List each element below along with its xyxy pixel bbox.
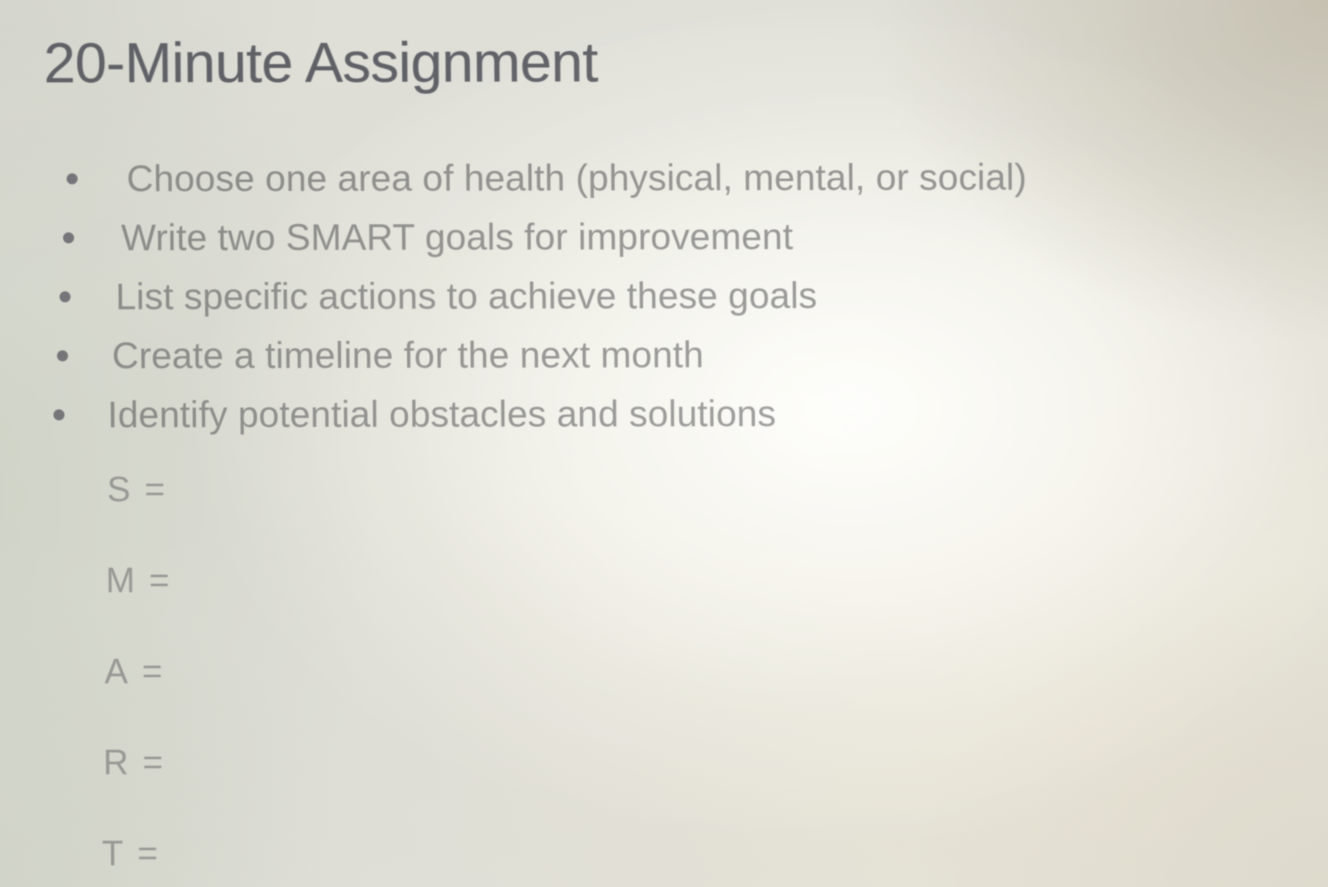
list-item-label: List specific actions to achieve these g… bbox=[115, 275, 817, 318]
bullet-dot-icon bbox=[57, 350, 68, 361]
smart-letter-t: T bbox=[102, 834, 125, 873]
smart-separator: = bbox=[142, 743, 164, 782]
smart-letter-s: S bbox=[107, 470, 132, 509]
smart-separator: = bbox=[137, 834, 159, 873]
list-item: Choose one area of health (physical, men… bbox=[66, 156, 1288, 217]
smart-separator: = bbox=[149, 561, 171, 600]
smart-separator: = bbox=[142, 652, 164, 691]
list-item: Write two SMART goals for improvement bbox=[63, 215, 1289, 276]
list-item-label: Choose one area of health (physical, men… bbox=[126, 157, 1027, 201]
smart-letter-r: R bbox=[103, 743, 130, 782]
smart-goal-worksheet: S = M = A = R = T = bbox=[101, 469, 705, 887]
smart-field-a: A = bbox=[104, 651, 703, 743]
projected-slide-photo: 20-Minute Assignment Choose one area of … bbox=[0, 0, 1328, 887]
page-title: 20-Minute Assignment bbox=[43, 29, 597, 96]
list-item-label: Identify potential obstacles and solutio… bbox=[107, 393, 776, 436]
list-item: List specific actions to achieve these g… bbox=[59, 274, 1289, 335]
bullet-dot-icon bbox=[67, 173, 78, 184]
list-item: Create a timeline for the next month bbox=[57, 333, 1290, 394]
assignment-instruction-list: Choose one area of health (physical, men… bbox=[48, 156, 1290, 453]
list-item-label: Create a timeline for the next month bbox=[112, 334, 704, 377]
list-item-label: Write two SMART goals for improvement bbox=[121, 216, 793, 259]
list-item: Identify potential obstacles and solutio… bbox=[53, 392, 1290, 453]
bullet-dot-icon bbox=[59, 291, 70, 302]
smart-field-m: M = bbox=[106, 560, 703, 652]
smart-field-s: S = bbox=[107, 469, 702, 561]
smart-letter-a: A bbox=[104, 652, 129, 691]
smart-separator: = bbox=[144, 470, 166, 509]
smart-field-r: R = bbox=[103, 742, 704, 834]
smart-field-t: T = bbox=[102, 833, 705, 887]
smart-letter-m: M bbox=[106, 561, 137, 600]
bullet-dot-icon bbox=[53, 409, 64, 420]
bullet-dot-icon bbox=[63, 232, 74, 243]
slide-content: 20-Minute Assignment Choose one area of … bbox=[0, 0, 1328, 887]
